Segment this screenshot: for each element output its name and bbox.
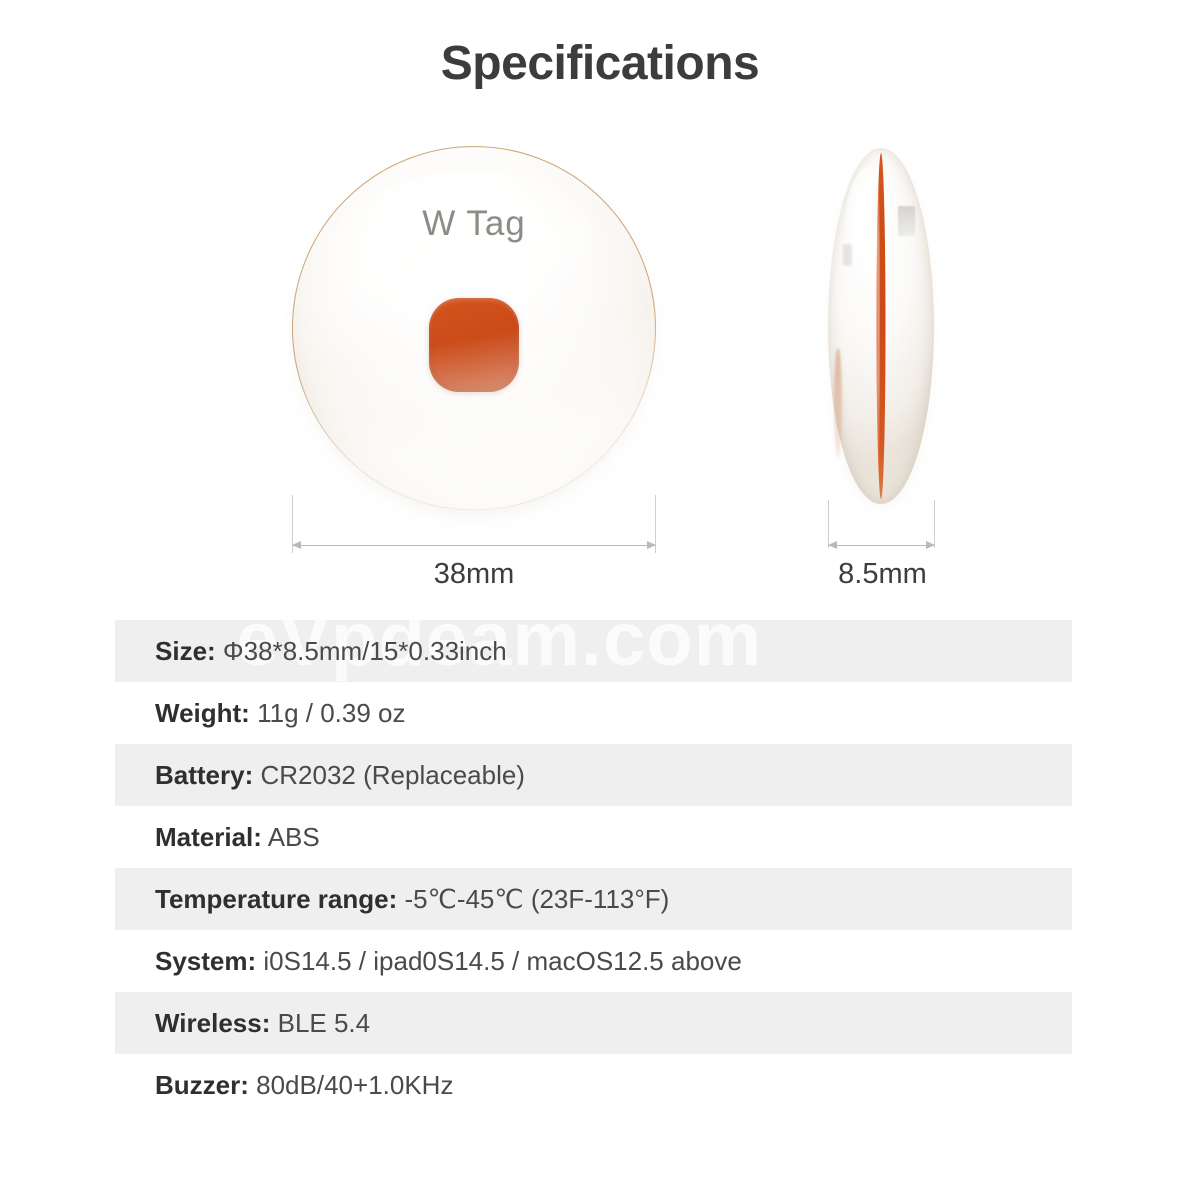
spec-row-temperature-range: Temperature range: -5℃-45℃ (23F-113°F): [0, 868, 1200, 930]
thickness-arrow-left: [828, 541, 837, 549]
tag-front-view: W Tag: [292, 146, 656, 510]
spec-row-system: System: i0S14.5 / ipad0S14.5 / macOS12.5…: [0, 930, 1200, 992]
tag-press-button: [429, 298, 519, 392]
spec-value-material: ABS: [268, 822, 320, 852]
dimension-label-diameter: 38mm: [292, 558, 656, 591]
product-illustration: W Tag 38mm 8.5mm: [0, 130, 1200, 600]
tag-brand-label: W Tag: [292, 204, 656, 244]
tag-side-view: [828, 148, 934, 504]
spec-row-buzzer: Buzzer: 80dB/40+1.0KHz: [0, 1054, 1200, 1116]
page-title: Specifications: [0, 36, 1200, 91]
spec-label-battery: Battery:: [155, 760, 253, 790]
spec-row-material: Material: ABS: [0, 806, 1200, 868]
spec-label-material: Material:: [155, 822, 262, 852]
specifications-table: Size: Φ38*8.5mm/15*0.33inch Weight: 11g …: [0, 620, 1200, 1116]
spec-value-weight: 11g / 0.39 oz: [257, 698, 405, 728]
spec-label-wireless: Wireless:: [155, 1008, 270, 1038]
dimension-arrow-right: [647, 541, 656, 549]
spec-value-battery: CR2032 (Replaceable): [260, 760, 524, 790]
tag-seam-highlight: [877, 162, 880, 482]
spec-value-wireless: BLE 5.4: [278, 1008, 371, 1038]
spec-label-system: System:: [155, 946, 256, 976]
spec-label-temperature-range: Temperature range:: [155, 884, 397, 914]
spec-value-system: i0S14.5 / ipad0S14.5 / macOS12.5 above: [263, 946, 741, 976]
tag-side-reflection: [834, 348, 842, 458]
dimension-line-thickness: [828, 545, 935, 546]
spec-value-temperature-range: -5℃-45℃ (23F-113°F): [405, 884, 670, 914]
spec-value-size: Φ38*8.5mm/15*0.33inch: [223, 636, 507, 666]
tag-side-marking-secondary: [843, 244, 852, 266]
dimension-label-thickness: 8.5mm: [810, 558, 955, 591]
spec-row-battery: Battery: CR2032 (Replaceable): [0, 744, 1200, 806]
spec-label-size: Size:: [155, 636, 216, 666]
tag-side-marking: [898, 206, 915, 236]
dimension-arrow-left: [292, 541, 301, 549]
dimension-line-diameter: [292, 545, 656, 546]
spec-label-buzzer: Buzzer:: [155, 1070, 249, 1100]
spec-row-weight: Weight: 11g / 0.39 oz: [0, 682, 1200, 744]
spec-label-weight: Weight:: [155, 698, 250, 728]
spec-row-size: Size: Φ38*8.5mm/15*0.33inch: [0, 620, 1200, 682]
tag-side-gloss-highlight: [845, 166, 896, 287]
spec-row-wireless: Wireless: BLE 5.4: [0, 992, 1200, 1054]
thickness-arrow-right: [926, 541, 935, 549]
spec-value-buzzer: 80dB/40+1.0KHz: [256, 1070, 453, 1100]
